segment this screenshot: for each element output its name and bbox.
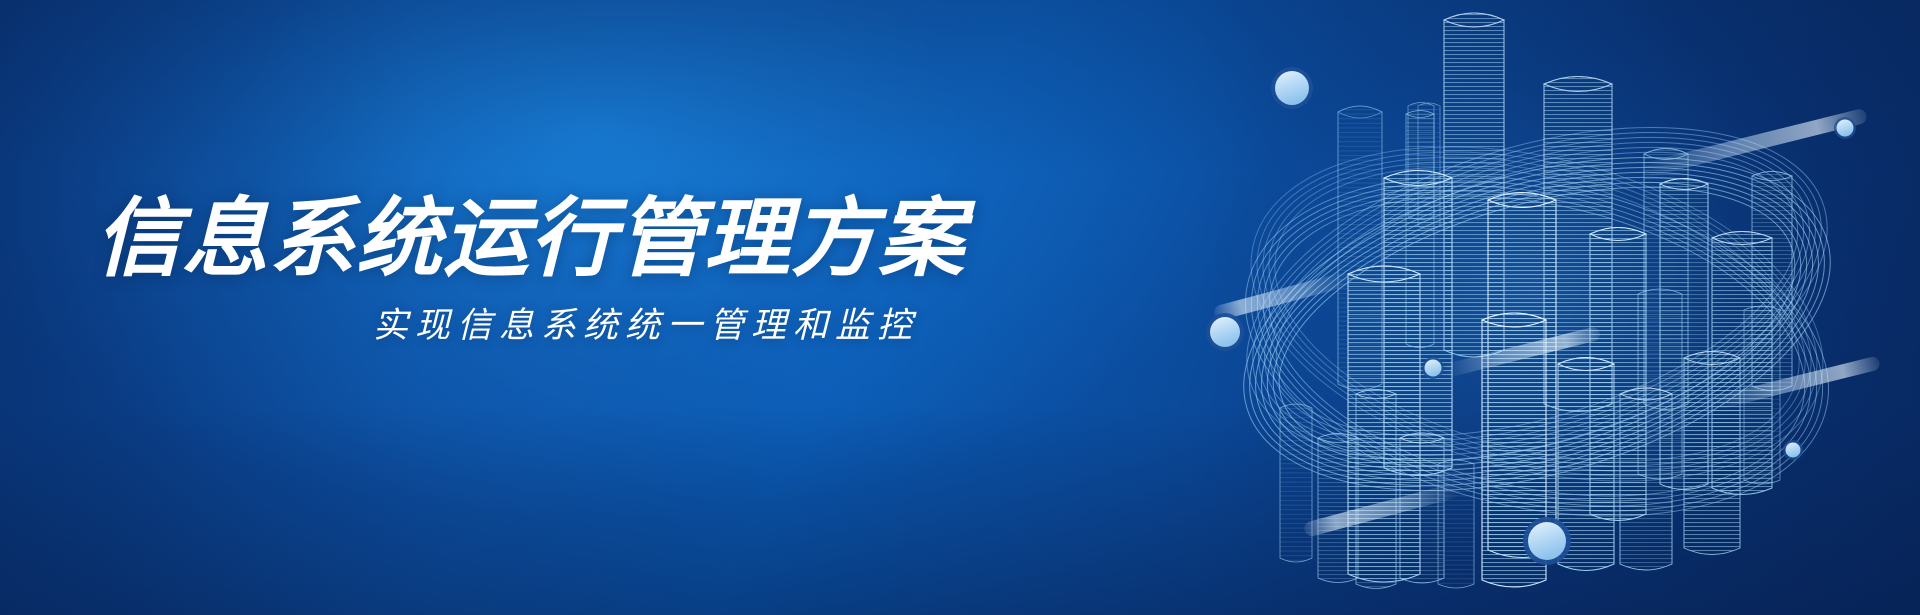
glow-dot (1523, 517, 1571, 565)
glow-dot (1834, 117, 1856, 139)
glow-dot (1783, 440, 1803, 460)
headline-block: 信息系统运行管理方案 实现信息系统统一管理和监控 (95, 196, 1095, 343)
glow-dot (1206, 313, 1244, 351)
building-tower (1620, 388, 1672, 570)
glow-dot (1422, 357, 1444, 379)
page-title: 信息系统运行管理方案 (95, 196, 1095, 282)
banner-root: 信息系统运行管理方案 实现信息系统统一管理和监控 (0, 0, 1920, 615)
glow-dot (1271, 67, 1313, 109)
city-illustration (1192, 0, 1882, 615)
page-subtitle: 实现信息系统统一管理和监控 (373, 308, 1095, 343)
